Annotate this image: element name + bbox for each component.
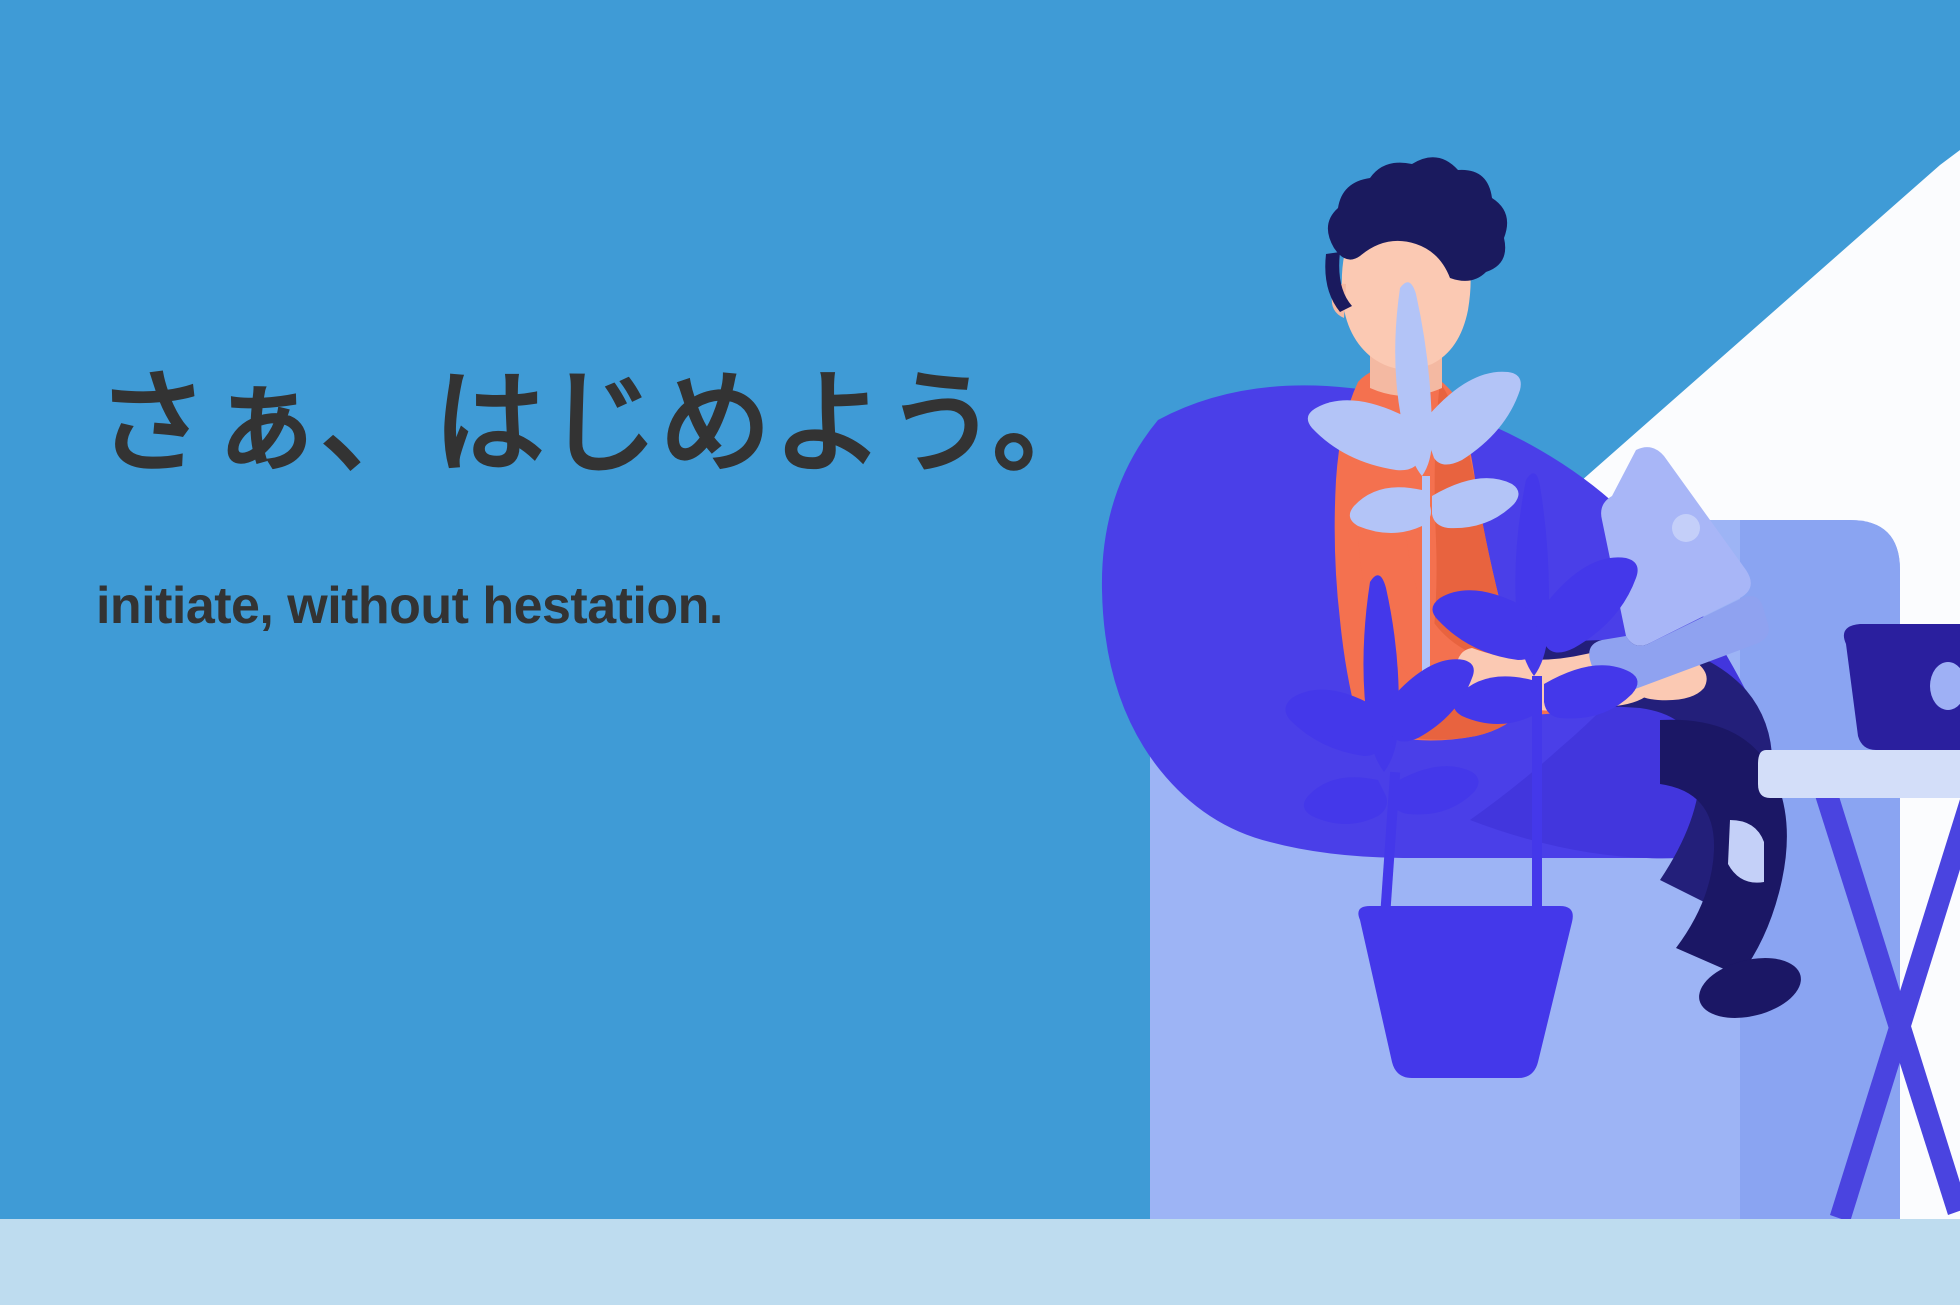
laptop-on-table <box>1844 624 1960 750</box>
hero-illustration <box>1040 120 1960 1305</box>
floor-strip <box>0 1219 1960 1305</box>
table-top <box>1758 750 1960 798</box>
slide-canvas: さぁ、はじめよう。 initiate, without hestation. <box>0 0 1960 1305</box>
